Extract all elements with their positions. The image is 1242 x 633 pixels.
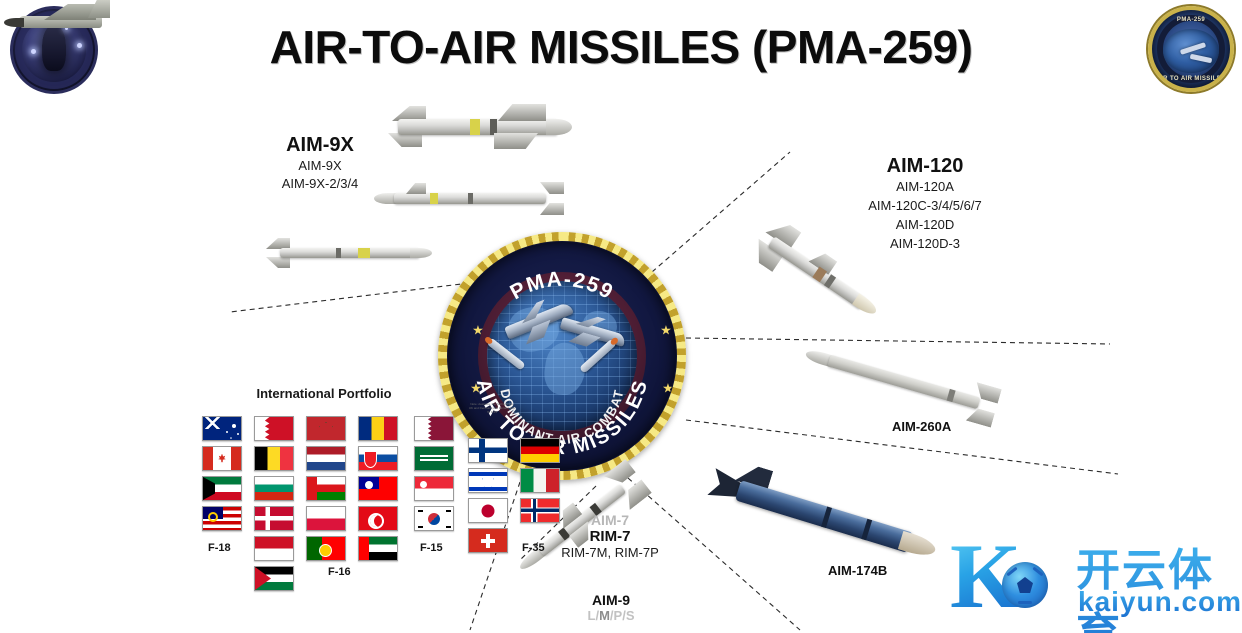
flag-cell xyxy=(414,476,454,502)
flag-cell xyxy=(468,498,508,524)
kaiyun-brand-cn: 开云体育 xyxy=(1076,534,1234,633)
flag-turkey xyxy=(358,506,398,531)
rim7-variants: RIM-7M, RIM-7P xyxy=(520,545,700,560)
flag-cell xyxy=(358,506,398,532)
aim9x-variant-1: AIM-9X xyxy=(240,157,400,175)
flag-cell xyxy=(306,536,346,562)
flag-cell xyxy=(468,468,508,494)
flag-malaysia xyxy=(202,506,242,531)
page-title: AIR-TO-AIR MISSILES (PMA-259) xyxy=(0,20,1242,74)
dark-band xyxy=(468,193,473,204)
fin xyxy=(498,104,546,121)
flag-cell xyxy=(254,536,294,562)
label-aim9: AIM-9 L/M/P/S xyxy=(556,592,666,623)
aim260a-title: AIM-260A xyxy=(892,419,1032,434)
platform-label-f18: F-18 xyxy=(208,542,231,554)
flag-cell xyxy=(358,476,398,502)
missile-image-aim9x-1 xyxy=(374,104,584,150)
international-portfolio-title: International Portfolio xyxy=(196,386,452,401)
nose-cone xyxy=(546,119,572,135)
flag-cell xyxy=(306,446,346,472)
flag-south-korea xyxy=(414,506,454,531)
flag-singapore xyxy=(414,476,454,501)
aim120-title: AIM-120 xyxy=(820,155,1030,178)
flag-kuwait xyxy=(202,476,242,501)
missile-body xyxy=(827,355,980,410)
aim9-variant-p: P xyxy=(614,608,623,623)
flag-cell xyxy=(254,476,294,502)
ball-seam xyxy=(1018,601,1032,604)
flag-cell xyxy=(414,416,454,442)
rim7-title: RIM-7 xyxy=(520,528,700,545)
emblem-top-text: PMA-259 xyxy=(1152,17,1230,23)
flag-israel xyxy=(468,468,508,493)
flag-netherlands xyxy=(306,446,346,471)
missile-image-aim9x-3 xyxy=(250,236,446,270)
flag-cell xyxy=(358,446,398,472)
flag-cell xyxy=(468,438,508,464)
flag-denmark xyxy=(254,506,294,531)
label-aim9x: AIM-9X AIM-9X AIM-9X-2/3/4 xyxy=(240,134,400,192)
slide-canvas: AIR-TO-AIR MISSILES (PMA-259) PMA-259 AI… xyxy=(0,0,1242,633)
flag-bahrain xyxy=(254,416,294,441)
pma-259-seal-small: PMA-259 AIR TO AIR MISSILES xyxy=(1148,6,1234,92)
aim120-variant-3: AIM-120D xyxy=(820,216,1030,235)
missile-body xyxy=(280,248,420,258)
flag-cell xyxy=(202,506,242,532)
flag-slovakia xyxy=(358,446,398,471)
yellow-band xyxy=(470,119,480,135)
flag-cell xyxy=(306,476,346,502)
flag-norway xyxy=(520,498,560,523)
kaiyun-url: kaiyun.com xyxy=(1078,586,1242,618)
flag-column-f16-a xyxy=(254,416,294,596)
flag-column-f16-b xyxy=(306,416,346,566)
flag-cell xyxy=(358,416,398,442)
flag-romania xyxy=(358,416,398,441)
aim120-variant-2: AIM-120C-3/4/5/6/7 xyxy=(820,197,1030,216)
fin xyxy=(494,133,538,149)
nose-cone xyxy=(410,248,432,258)
flag-australia xyxy=(202,416,242,441)
flag-column-f18: F-18 xyxy=(202,416,242,536)
platform-label-f35: F-35 xyxy=(522,542,545,554)
flag-finland xyxy=(468,438,508,463)
flag-cell xyxy=(306,506,346,532)
flag-cell xyxy=(254,506,294,532)
flag-saudi-arabia xyxy=(414,446,454,471)
ball-seam xyxy=(1006,567,1017,577)
flag-switzerland xyxy=(468,528,508,553)
aim9-variant-s: S xyxy=(626,608,635,623)
aim9x-variant-2: AIM-9X-2/3/4 xyxy=(240,175,400,193)
flag-belgium xyxy=(254,446,294,471)
flag-germany xyxy=(520,438,560,463)
flag-qatar xyxy=(414,416,454,441)
flag-oman xyxy=(306,476,346,501)
flag-indonesia xyxy=(254,536,294,561)
star-spark-icon xyxy=(77,43,82,48)
flag-column-f15: F-15 xyxy=(414,416,454,536)
flag-cell xyxy=(468,528,508,554)
dark-band xyxy=(336,248,341,258)
flag-cell xyxy=(254,416,294,442)
aim9-variant-m: M xyxy=(599,608,610,623)
flag-italy xyxy=(520,468,560,493)
aim9-title: AIM-9 xyxy=(556,592,666,608)
nose-cone xyxy=(898,531,938,560)
ball-pentagon xyxy=(1017,577,1033,593)
flag-cell xyxy=(202,416,242,442)
label-aim260a: AIM-260A xyxy=(892,419,1032,434)
connector-aim260 xyxy=(686,338,1110,344)
flag-portugal xyxy=(306,536,346,561)
flag-bulgaria xyxy=(254,476,294,501)
flag-cell xyxy=(520,498,560,524)
kaiyun-watermark: K 开云体育 kaiyun.com xyxy=(944,520,1234,628)
flag-column-f35-b: F-35 xyxy=(520,438,560,528)
fin xyxy=(619,479,652,510)
flag-cell xyxy=(254,446,294,472)
aim120-variant-1: AIM-120A xyxy=(820,178,1030,197)
f35-fine-note: Note: Australia, the Netherlands, UK and… xyxy=(468,402,516,414)
aim9-variants: L/M/P/S xyxy=(556,608,666,623)
emblem-bottom-text: AIR TO AIR MISSILES xyxy=(1152,76,1230,82)
platform-label-f15: F-15 xyxy=(420,542,443,554)
flag-cell xyxy=(520,468,560,494)
nose-cone xyxy=(852,293,879,317)
fin xyxy=(266,257,290,268)
platform-label-f16: F-16 xyxy=(328,566,351,578)
dark-band xyxy=(490,119,497,135)
flag-uae xyxy=(358,536,398,561)
flag-cell xyxy=(520,438,560,464)
flag-jordan xyxy=(254,566,294,591)
connector-aim9x xyxy=(230,282,478,312)
aim9x-title: AIM-9X xyxy=(240,134,400,157)
flag-cell xyxy=(414,446,454,472)
international-portfolio-section: International Portfolio F-18 xyxy=(196,386,452,578)
missile-image-aim9x-2 xyxy=(372,180,572,216)
flag-cell xyxy=(202,446,242,472)
flag-cell xyxy=(202,476,242,502)
fin xyxy=(540,203,564,215)
star-spark-icon xyxy=(31,49,36,54)
flag-cell xyxy=(254,566,294,592)
flag-cell xyxy=(358,536,398,562)
flag-column-f35-a: Note: Australia, the Netherlands, UK and… xyxy=(468,416,508,558)
flag-taiwan xyxy=(358,476,398,501)
nose xyxy=(4,18,24,27)
flag-cell xyxy=(306,416,346,442)
label-aim120: AIM-120 AIM-120A AIM-120C-3/4/5/6/7 AIM-… xyxy=(820,155,1030,253)
flag-poland xyxy=(306,506,346,531)
yellow-band xyxy=(430,193,438,204)
flag-column-f16-c: F-16 xyxy=(358,416,398,566)
flag-canada xyxy=(202,446,242,471)
flag-japan xyxy=(468,498,508,523)
flag-morocco xyxy=(306,416,346,441)
soccer-ball-icon xyxy=(1002,562,1048,608)
fin xyxy=(406,183,426,194)
yellow-band xyxy=(358,248,370,258)
aim120-variant-4: AIM-120D-3 xyxy=(820,235,1030,254)
flag-cell xyxy=(414,506,454,532)
hooded-figure-icon xyxy=(42,25,66,71)
